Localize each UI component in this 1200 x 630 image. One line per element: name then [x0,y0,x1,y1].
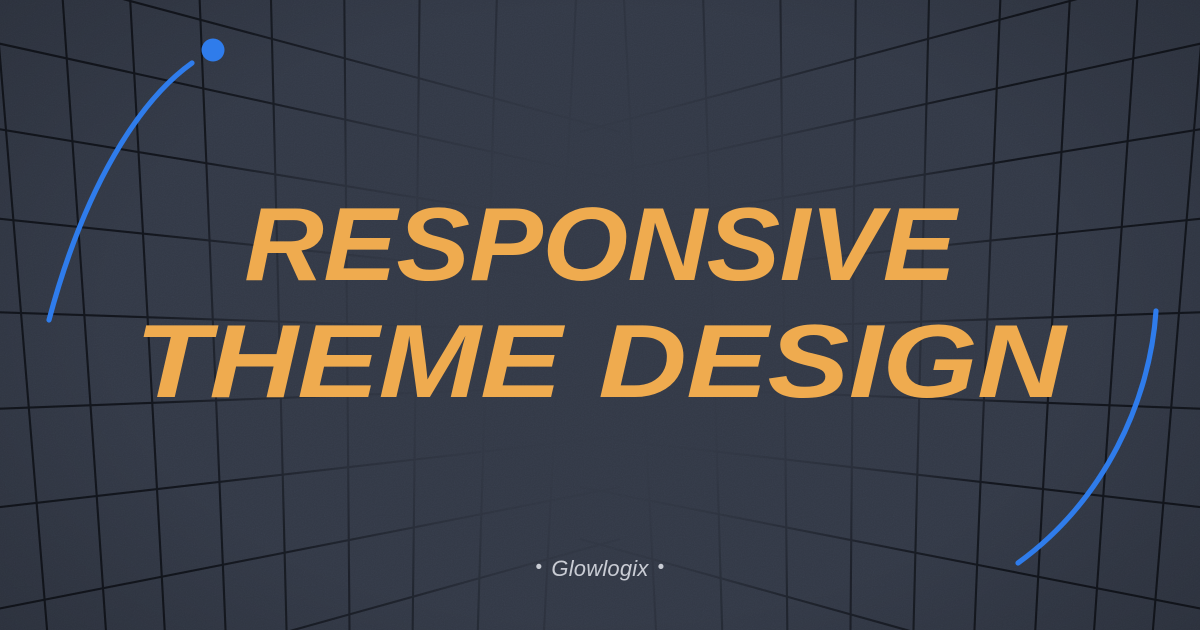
bullet-left-icon: • [536,557,543,579]
brand-footer: •Glowlogix• [0,556,1200,582]
bullet-right-icon: • [658,557,665,579]
headline-line-2-word-2: DESIGN [598,304,1065,420]
poster-content: RESPONSIVE THEMEDESIGN •Glowlogix• [0,0,1200,630]
headline-line-2: THEMEDESIGN [0,313,1200,413]
headline-line-2-word-1: THEME [135,304,562,420]
poster-canvas: RESPONSIVE THEMEDESIGN •Glowlogix• [0,0,1200,630]
brand-name: Glowlogix [551,556,648,581]
headline-line-1: RESPONSIVE [0,196,1200,296]
